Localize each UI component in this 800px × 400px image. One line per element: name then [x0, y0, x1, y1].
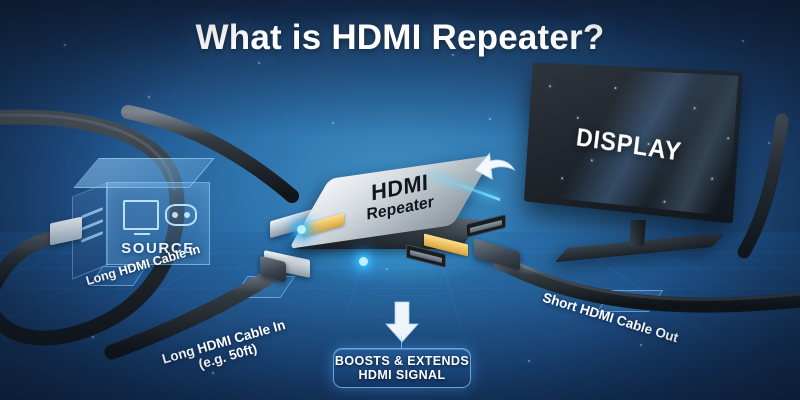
hdmi-repeater-infographic: What is HDMI Repeater? SOURCE — [0, 0, 800, 400]
background-vignette — [0, 0, 800, 400]
